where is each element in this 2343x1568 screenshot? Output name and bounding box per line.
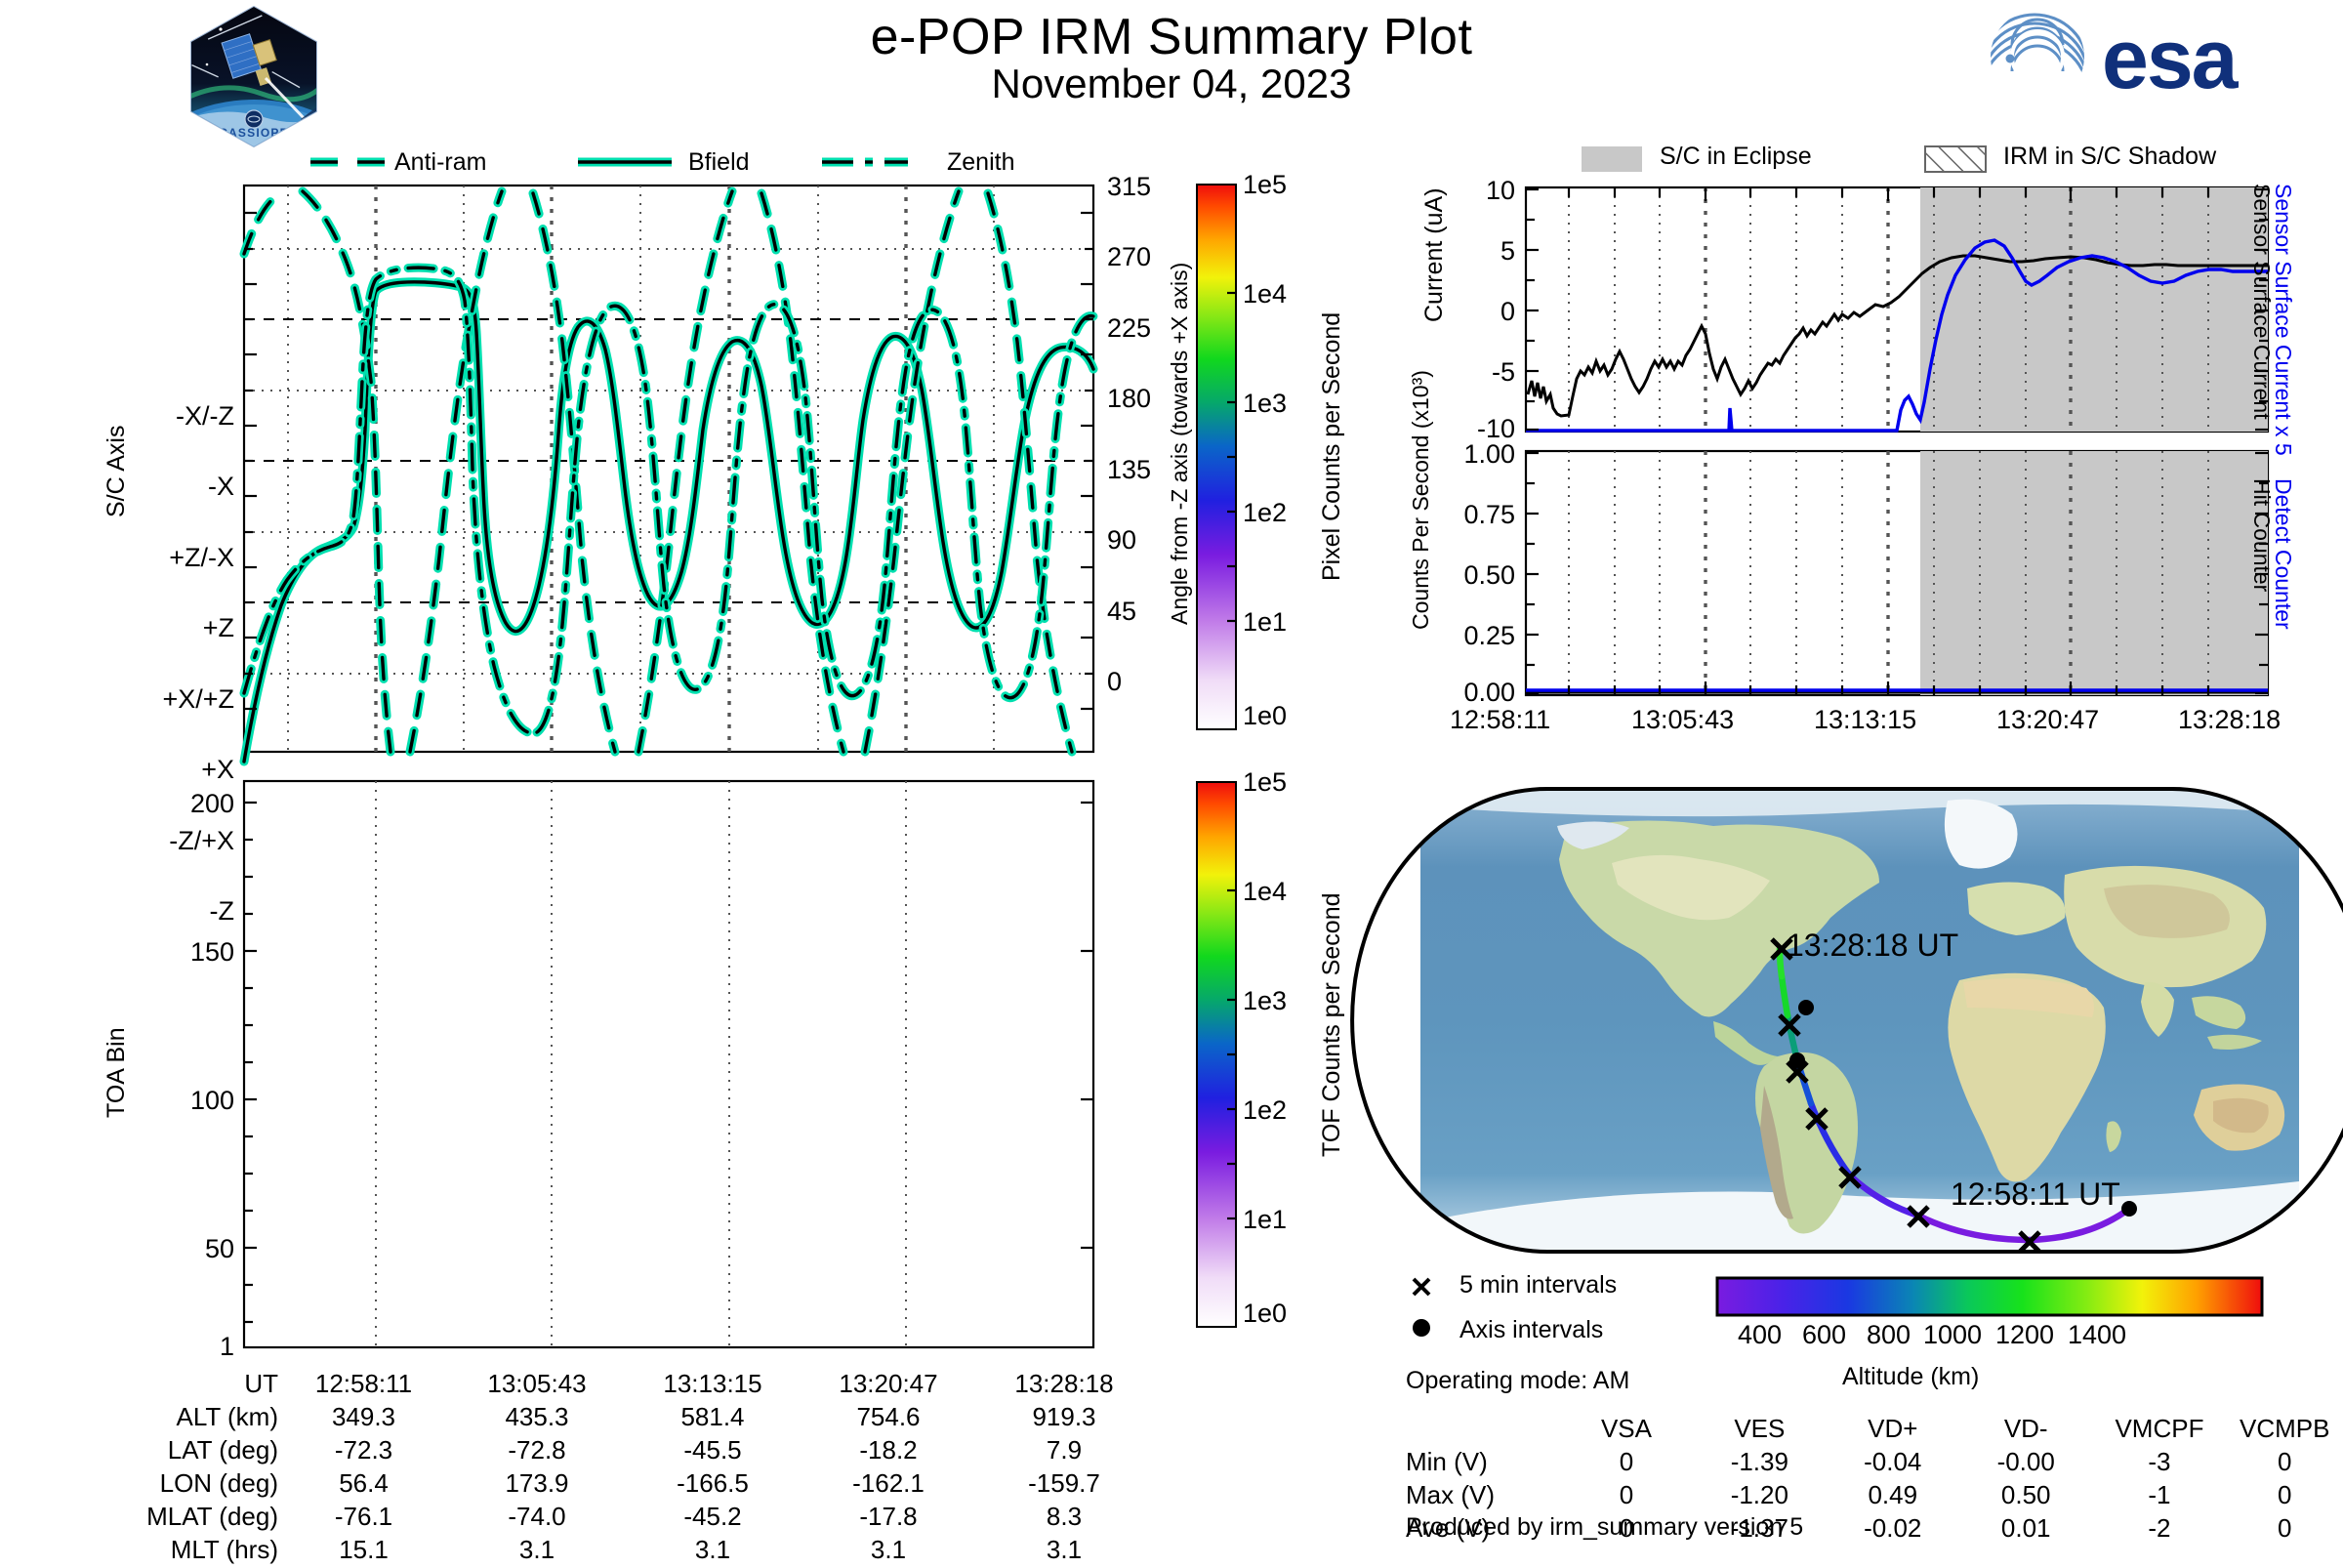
ytick-4: +X/+Z xyxy=(162,684,234,714)
cb1-tick-0: 1e5 xyxy=(1243,170,1287,199)
map-legend xyxy=(1406,1269,1445,1347)
row-label-ut: UT xyxy=(244,1369,278,1398)
cb1-tick-4: 1e1 xyxy=(1243,607,1287,637)
ytick-3: +Z xyxy=(203,613,234,642)
row-label-max: Max (V) xyxy=(1406,1480,1495,1509)
ytick-6: -Z/+X xyxy=(169,826,234,855)
cnt-ytick-2: 0.50 xyxy=(1463,560,1515,590)
lat-4: 7.9 xyxy=(1047,1435,1082,1465)
toa-ytick-1: 150 xyxy=(190,937,234,967)
page-date: November 04, 2023 xyxy=(683,61,1660,107)
ytick-r-2: 225 xyxy=(1107,313,1151,343)
panel-toa-plot[interactable] xyxy=(244,781,1093,1347)
cb2-tick-4: 1e1 xyxy=(1243,1205,1287,1234)
lon-3: -162.1 xyxy=(852,1468,925,1498)
cnt-ytick-0: 1.00 xyxy=(1463,439,1515,469)
cb1-tick-2: 1e3 xyxy=(1243,389,1287,418)
ytick-r-3: 180 xyxy=(1107,384,1151,413)
max-vdm: 0.50 xyxy=(2001,1480,2051,1509)
ut-3: 13:20:47 xyxy=(839,1369,937,1398)
ytick-r-4: 135 xyxy=(1107,455,1151,484)
row-label-lon: LON (deg) xyxy=(160,1468,278,1498)
time-tick-2: 13:13:15 xyxy=(1814,705,1916,734)
ut-4: 13:28:18 xyxy=(1014,1369,1113,1398)
cur-ytick-1: 5 xyxy=(1500,236,1515,266)
legend-label-bfield: Bfield xyxy=(688,148,750,177)
table-row: ALT (km) 349.3 435.3 581.4 754.6 919.3 xyxy=(98,1402,1152,1435)
lat-0: -72.3 xyxy=(335,1435,392,1465)
mlt-0: 15.1 xyxy=(339,1535,389,1564)
ephemeris-table: UT 12:58:11 13:05:43 13:13:15 13:20:47 1… xyxy=(98,1369,1152,1568)
table-row: LON (deg) 56.4 173.9 -166.5 -162.1 -159.… xyxy=(98,1468,1152,1502)
cb1-tick-5: 1e0 xyxy=(1243,701,1287,730)
max-vcmpb: 0 xyxy=(2278,1480,2291,1509)
cnt-ytick-4: 0.00 xyxy=(1463,678,1515,707)
lon-0: 56.4 xyxy=(339,1468,389,1498)
ytick-0: -X/-Z xyxy=(176,401,234,431)
alt-tick-2: 800 xyxy=(1867,1320,1911,1349)
mlat-3: -17.8 xyxy=(859,1502,917,1531)
mlt-2: 3.1 xyxy=(695,1535,730,1564)
max-ves: -1.20 xyxy=(1731,1480,1788,1509)
legend-label-antiram: Anti-ram xyxy=(394,148,486,177)
map-start-label: 12:58:11 UT xyxy=(1951,1176,2120,1213)
toa-ytick-3: 50 xyxy=(205,1234,234,1263)
panel-current-plot[interactable] xyxy=(1526,187,2268,432)
pixel-counts-colorbar-label: Pixel Counts per Second xyxy=(1318,312,1346,581)
svg-text:esa: esa xyxy=(2102,13,2240,106)
table-row: Max (V) 0 -1.20 0.49 0.50 -1 0 xyxy=(1406,1480,2343,1513)
alt-tick-4: 1200 xyxy=(1995,1320,2054,1349)
ave-vdm: 0.01 xyxy=(2001,1513,2051,1543)
pixel-counts-colorbar xyxy=(1196,184,1237,730)
panel-attitude-ylabel-right: Angle from -Z axis (towards +X axis) xyxy=(1167,263,1193,625)
ytick-7: -Z xyxy=(210,896,234,926)
cb2-tick-2: 1e3 xyxy=(1243,986,1287,1015)
ave-vdp: -0.02 xyxy=(1864,1513,1921,1543)
map-start-time: 12:58:11 UT xyxy=(1951,1176,2120,1212)
map-legend-label-axis: Axis intervals xyxy=(1459,1316,1603,1344)
map-end-time: 13:28:18 UT xyxy=(1787,928,1958,963)
ut-0: 12:58:11 xyxy=(315,1369,412,1398)
ytick-r-0: 315 xyxy=(1107,172,1151,201)
world-map-panel[interactable] xyxy=(1420,781,2299,1259)
mlat-2: -45.2 xyxy=(683,1502,741,1531)
col-vmcpf: VMCPF xyxy=(2115,1414,2203,1443)
time-tick-3: 13:20:47 xyxy=(1996,705,2099,734)
panel-counts-ylabel: Counts Per Second (x10³) xyxy=(1408,370,1434,630)
eclipse-shading xyxy=(1920,187,2268,432)
ytick-2: +Z/-X xyxy=(169,543,234,572)
panel-attitude-plot[interactable] xyxy=(244,186,1093,752)
min-vsa: 0 xyxy=(1620,1447,1633,1476)
ut-1: 13:05:43 xyxy=(487,1369,586,1398)
panel-attitude-ylabel: S/C Axis xyxy=(103,426,131,517)
cnt-ytick-1: 0.75 xyxy=(1463,500,1515,529)
alt-2: 581.4 xyxy=(680,1402,744,1431)
col-ves: VES xyxy=(1734,1414,1785,1443)
mlt-3: 3.1 xyxy=(871,1535,906,1564)
row-label-alt: ALT (km) xyxy=(177,1402,278,1431)
lon-2: -166.5 xyxy=(677,1468,749,1498)
cb1-tick-1: 1e4 xyxy=(1243,279,1287,309)
cur-ytick-0: 10 xyxy=(1486,176,1515,205)
lat-1: -72.8 xyxy=(508,1435,565,1465)
min-vdm: -0.00 xyxy=(1997,1447,2055,1476)
altitude-colorbar-label: Altitude (km) xyxy=(1842,1363,1979,1391)
time-tick-1: 13:05:43 xyxy=(1631,705,1734,734)
time-tick-0: 12:58:11 xyxy=(1450,705,1550,734)
table-row: MLT (hrs) 15.1 3.1 3.1 3.1 3.1 xyxy=(98,1535,1152,1568)
panel-counts-right-label-black: Hit Counter xyxy=(2248,478,2275,592)
eclipse-legend-label: S/C in Eclipse xyxy=(1660,143,1812,171)
ytick-1: -X xyxy=(208,472,234,501)
table-header-row: VSA VES VD+ VD- VMCPF VCMPB xyxy=(1406,1414,2343,1447)
row-label-mlt: MLT (hrs) xyxy=(171,1535,278,1564)
axis-interval-dot xyxy=(1798,1000,1814,1015)
ave-vmcpf: -2 xyxy=(2148,1513,2170,1543)
row-label-min: Min (V) xyxy=(1406,1447,1488,1476)
alt-1: 435.3 xyxy=(505,1402,568,1431)
lat-2: -45.5 xyxy=(683,1435,741,1465)
altitude-colorbar xyxy=(1716,1277,2263,1316)
max-vsa: 0 xyxy=(1620,1480,1633,1509)
cb2-tick-5: 1e0 xyxy=(1243,1299,1287,1328)
ytick-r-5: 90 xyxy=(1107,525,1136,555)
legend-label-zenith: Zenith xyxy=(947,148,1014,177)
cb2-tick-1: 1e4 xyxy=(1243,877,1287,906)
mlat-0: -76.1 xyxy=(335,1502,392,1531)
mlat-4: 8.3 xyxy=(1047,1502,1082,1531)
alt-tick-1: 600 xyxy=(1802,1320,1846,1349)
min-ves: -1.39 xyxy=(1731,1447,1788,1476)
ytick-r-1: 270 xyxy=(1107,242,1151,271)
ytick-r-7: 0 xyxy=(1107,667,1122,696)
panel-current-ylabel: Current (uA) xyxy=(1420,187,1449,322)
map-legend-label-5min: 5 min intervals xyxy=(1459,1271,1617,1300)
cb2-tick-0: 1e5 xyxy=(1243,767,1287,797)
tof-counts-colorbar-label: TOF Counts per Second xyxy=(1318,892,1346,1157)
eclipse-shading xyxy=(1920,451,2268,695)
operating-mode: Operating mode: AM xyxy=(1406,1367,1629,1395)
esa-logo: esa xyxy=(1987,8,2304,105)
alt-tick-0: 400 xyxy=(1738,1320,1782,1349)
footer-produced-by: Produced by irm_summary version 5 xyxy=(1406,1513,1803,1542)
map-end-label: 13:28:18 UT xyxy=(1787,928,1958,964)
alt-tick-3: 1000 xyxy=(1923,1320,1982,1349)
page-title: e-POP IRM Summary Plot xyxy=(683,8,1660,66)
cb2-tick-3: 1e2 xyxy=(1243,1095,1287,1125)
toa-ytick-2: 100 xyxy=(190,1086,234,1115)
panel-attitude-legend xyxy=(283,143,888,182)
col-vdm: VD- xyxy=(2004,1414,2048,1443)
panel-counts-plot[interactable] xyxy=(1526,451,2268,695)
cnt-ytick-3: 0.25 xyxy=(1463,621,1515,650)
row-label-lat: LAT (deg) xyxy=(168,1435,278,1465)
tof-counts-colorbar xyxy=(1196,781,1237,1328)
min-vmcpf: -3 xyxy=(2148,1447,2170,1476)
col-vsa: VSA xyxy=(1601,1414,1652,1443)
min-vcmpb: 0 xyxy=(2278,1447,2291,1476)
alt-tick-5: 1400 xyxy=(2068,1320,2126,1349)
alt-4: 919.3 xyxy=(1032,1402,1095,1431)
toa-ytick-0: 200 xyxy=(190,789,234,818)
table-row: LAT (deg) -72.3 -72.8 -45.5 -18.2 7.9 xyxy=(98,1435,1152,1468)
mlat-1: -74.0 xyxy=(508,1502,565,1531)
max-vdp: 0.49 xyxy=(1868,1480,1917,1509)
time-tick-4: 13:28:18 xyxy=(2178,705,2281,734)
ytick-5: +X xyxy=(201,755,234,784)
max-vmcpf: -1 xyxy=(2148,1480,2170,1509)
col-vdp: VD+ xyxy=(1868,1414,1917,1443)
alt-3: 754.6 xyxy=(856,1402,920,1431)
shadow-legend-label: IRM in S/C Shadow xyxy=(2003,143,2216,171)
row-label-mlat: MLAT (deg) xyxy=(146,1502,278,1531)
cur-ytick-2: 0 xyxy=(1500,297,1515,326)
min-vdp: -0.04 xyxy=(1864,1447,1921,1476)
table-row: Min (V) 0 -1.39 -0.04 -0.00 -3 0 xyxy=(1406,1447,2343,1480)
ut-2: 13:13:15 xyxy=(663,1369,761,1398)
cassiope-mission-patch: CASSIOPE xyxy=(185,4,322,148)
panel-toa-ylabel: TOA Bin xyxy=(103,1027,131,1118)
table-row: UT 12:58:11 13:05:43 13:13:15 13:20:47 1… xyxy=(98,1369,1152,1402)
ave-vcmpb: 0 xyxy=(2278,1513,2291,1543)
cur-ytick-3: -5 xyxy=(1492,357,1515,387)
panel-current-right-label-black: Sensor Surface Current xyxy=(2248,184,2275,420)
ytick-r-6: 45 xyxy=(1107,597,1136,626)
alt-0: 349.3 xyxy=(332,1402,395,1431)
col-vcmpb: VCMPB xyxy=(2240,1414,2329,1443)
lat-3: -18.2 xyxy=(859,1435,917,1465)
lon-4: -159.7 xyxy=(1028,1468,1100,1498)
table-row: MLAT (deg) -76.1 -74.0 -45.2 -17.8 8.3 xyxy=(98,1502,1152,1535)
lon-1: 173.9 xyxy=(505,1468,568,1498)
mlt-4: 3.1 xyxy=(1047,1535,1082,1564)
mlt-1: 3.1 xyxy=(519,1535,555,1564)
cb1-tick-3: 1e2 xyxy=(1243,498,1287,527)
x-marker-icon xyxy=(1414,1279,1429,1295)
axis-interval-dot xyxy=(2121,1201,2137,1217)
toa-ytick-4: 1 xyxy=(220,1332,234,1361)
dot-marker-icon xyxy=(1413,1319,1430,1337)
